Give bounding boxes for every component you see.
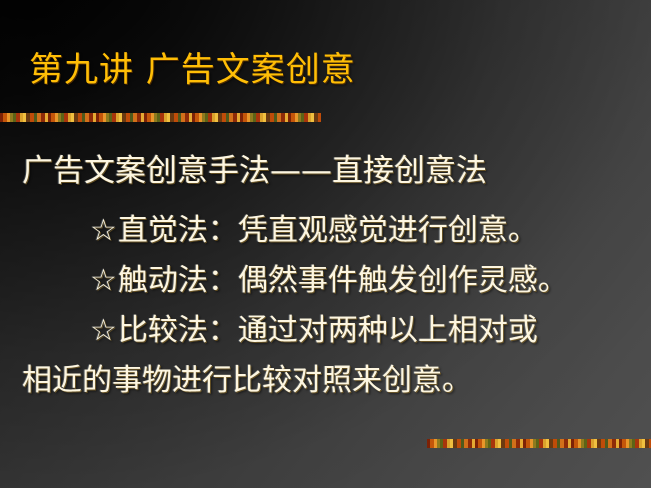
star-icon: ☆ bbox=[90, 206, 117, 256]
star-icon: ☆ bbox=[90, 306, 117, 356]
slide-body: 广告文案创意手法——直接创意法 ☆直觉法：凭直观感觉进行创意。 ☆触动法：偶然事… bbox=[22, 148, 636, 406]
list-item-label: 比较法：通过对两种以上相对或 bbox=[118, 313, 538, 348]
list-item-continuation: 相近的事物进行比较对照来创意。 bbox=[22, 356, 636, 406]
list-item-label: 直觉法：凭直观感觉进行创意。 bbox=[118, 213, 538, 248]
slide-subtitle: 广告文案创意手法——直接创意法 bbox=[22, 148, 636, 194]
slide-title: 第九讲 广告文案创意 bbox=[29, 48, 356, 92]
list-item-label: 触动法：偶然事件触发创作灵感。 bbox=[118, 263, 568, 298]
list-item: ☆比较法：通过对两种以上相对或 bbox=[22, 306, 636, 356]
list-item: ☆触动法：偶然事件触发创作灵感。 bbox=[22, 256, 636, 306]
decorative-bar-bottom bbox=[427, 439, 651, 448]
slide-canvas: 第九讲 广告文案创意 广告文案创意手法——直接创意法 ☆直觉法：凭直观感觉进行创… bbox=[0, 0, 651, 488]
star-icon: ☆ bbox=[90, 256, 117, 306]
list-item: ☆直觉法：凭直观感觉进行创意。 bbox=[22, 206, 636, 256]
decorative-bar-top bbox=[0, 113, 321, 122]
